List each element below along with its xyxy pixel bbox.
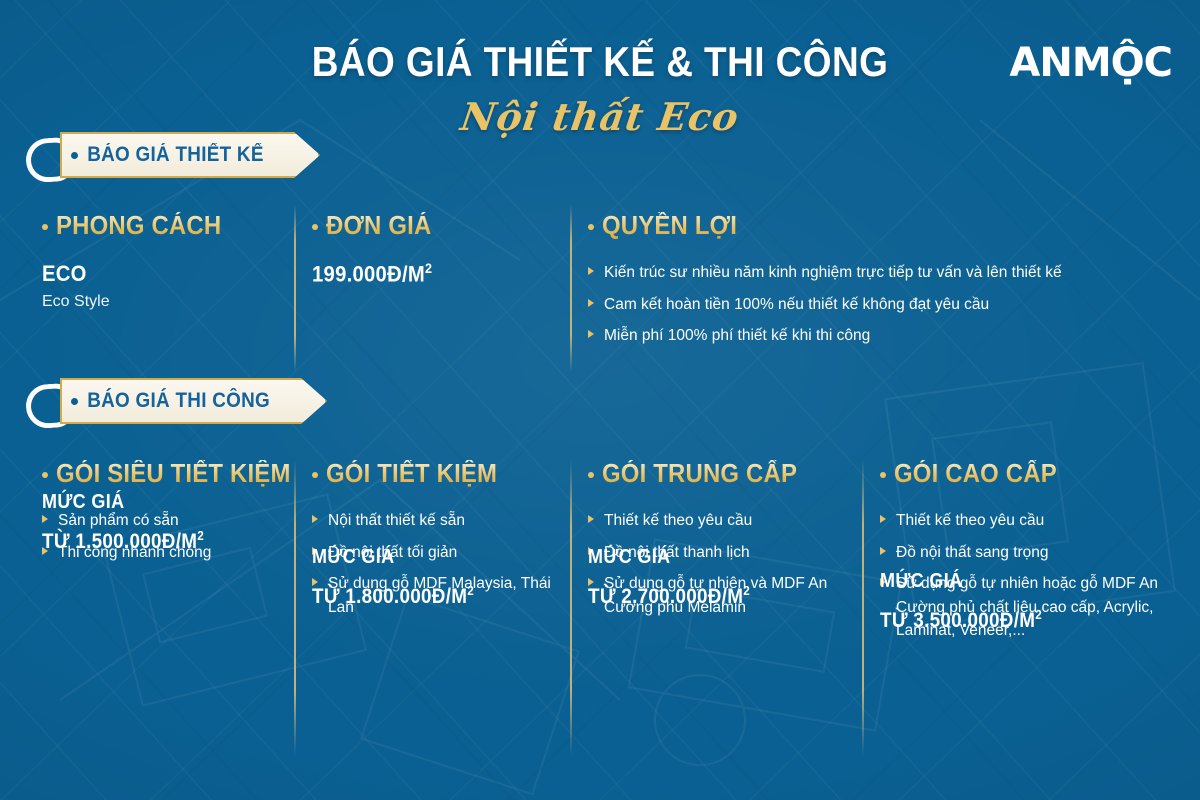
package-mid-range: GÓI TRUNG CẤP Thiết kế theo yêu cầu Đồ n… bbox=[588, 460, 858, 627]
unit-price-superscript: 2 bbox=[425, 261, 432, 276]
tag-body: BÁO GIÁ THIẾT KẾ bbox=[60, 132, 320, 178]
list-item: Miễn phí 100% phí thiết kế khi thi công bbox=[588, 324, 1168, 348]
quotation-poster: BÁO GIÁ THIẾT KẾ & THI CÔNG Nội thất Eco… bbox=[0, 0, 1200, 800]
list-item: Cam kết hoàn tiền 100% nếu thiết kế khôn… bbox=[588, 293, 1168, 317]
tag-label-construction: BÁO GIÁ THI CÔNG bbox=[80, 389, 270, 413]
package-price-block: MỨC GIÁ TỪ 1.500.000Đ/M2 bbox=[42, 491, 222, 554]
list-item-text: Nội thất thiết kế sẵn bbox=[328, 512, 465, 529]
list-item-text: Thiết kế theo yêu cầu bbox=[604, 512, 752, 529]
heading-text: QUYỀN LỢI bbox=[602, 212, 737, 239]
style-value: ECO bbox=[42, 261, 272, 287]
package-heading: GÓI CAO CẤP bbox=[880, 460, 1180, 487]
package-price-block: MỨC GIÁ TỪ 2.700.000Đ/M2 bbox=[588, 546, 768, 609]
price-superscript: 2 bbox=[197, 528, 204, 543]
unit-price-number: 199.000Đ/M bbox=[312, 262, 425, 287]
price-superscript: 2 bbox=[467, 583, 474, 598]
benefits-list: Kiến trúc sư nhiều năm kinh nghiệm trực … bbox=[588, 261, 1168, 348]
package-heading: GÓI SIÊU TIẾT KIỆM bbox=[42, 460, 292, 487]
style-subvalue: Eco Style bbox=[42, 293, 292, 311]
list-item-text: Thiết kế theo yêu cầu bbox=[896, 512, 1044, 529]
section-tag-construction: BÁO GIÁ THI CÔNG bbox=[22, 378, 327, 424]
price-label: MỨC GIÁ bbox=[588, 546, 750, 569]
triangle-bullet-icon bbox=[880, 547, 886, 555]
list-item: Nội thất thiết kế sẵn bbox=[312, 509, 562, 533]
tag-hole-icon bbox=[71, 152, 78, 159]
heading-text: PHONG CÁCH bbox=[56, 212, 221, 239]
column-heading-benefits: QUYỀN LỢI bbox=[588, 212, 1168, 239]
triangle-bullet-icon bbox=[588, 267, 594, 275]
price-number: TỪ 1.800.000Đ/M bbox=[312, 585, 467, 608]
package-heading: GÓI TIẾT KIỆM bbox=[312, 460, 562, 487]
tag-body: BÁO GIÁ THI CÔNG bbox=[60, 378, 327, 424]
section-tag-design: BÁO GIÁ THIẾT KẾ bbox=[22, 132, 320, 178]
list-item-text: Miễn phí 100% phí thiết kế khi thi công bbox=[604, 327, 870, 344]
triangle-bullet-icon bbox=[880, 515, 886, 523]
column-heading-unit-price: ĐƠN GIÁ bbox=[312, 212, 542, 239]
bullet-dot-icon bbox=[42, 224, 48, 230]
bullet-dot-icon bbox=[42, 472, 48, 478]
package-heading: GÓI TRUNG CẤP bbox=[588, 460, 858, 487]
bullet-dot-icon bbox=[312, 472, 318, 478]
heading-text: GÓI TRUNG CẤP bbox=[602, 460, 797, 487]
price-number: TỪ 1.500.000Đ/M bbox=[42, 530, 197, 553]
brand-logo: ANMỘC bbox=[1009, 40, 1172, 86]
triangle-bullet-icon bbox=[312, 515, 318, 523]
column-heading-style: PHONG CÁCH bbox=[42, 212, 292, 239]
heading-text: ĐƠN GIÁ bbox=[326, 212, 431, 239]
bullet-dot-icon bbox=[880, 472, 886, 478]
price-label: MỨC GIÁ bbox=[312, 546, 474, 569]
column-benefits: QUYỀN LỢI Kiến trúc sư nhiều năm kinh ng… bbox=[588, 212, 1168, 356]
list-item-text: Cam kết hoàn tiền 100% nếu thiết kế khôn… bbox=[604, 296, 989, 313]
heading-text: GÓI SIÊU TIẾT KIỆM bbox=[56, 460, 291, 487]
tag-hole-icon bbox=[71, 398, 78, 405]
bullet-dot-icon bbox=[588, 472, 594, 478]
package-saver: GÓI TIẾT KIỆM Nội thất thiết kế sẵn Đồ n… bbox=[312, 460, 562, 627]
price-value: TỪ 3.500.000Đ/M2 bbox=[880, 607, 1042, 633]
bullet-dot-icon bbox=[312, 224, 318, 230]
design-quote-row: PHONG CÁCH ECO Eco Style ĐƠN GIÁ 199.000… bbox=[0, 212, 1200, 382]
package-premium: GÓI CAO CẤP Thiết kế theo yêu cầu Đồ nội… bbox=[880, 460, 1180, 651]
bullet-dot-icon bbox=[588, 224, 594, 230]
heading-text: GÓI CAO CẤP bbox=[894, 460, 1057, 487]
column-unit-price: ĐƠN GIÁ 199.000Đ/M2 bbox=[312, 212, 542, 294]
list-item: Thiết kế theo yêu cầu bbox=[588, 509, 858, 533]
triangle-bullet-icon bbox=[588, 515, 594, 523]
price-value: TỪ 1.500.000Đ/M2 bbox=[42, 528, 204, 554]
unit-price-value: 199.000Đ/M2 bbox=[312, 261, 524, 287]
package-price-block: MỨC GIÁ TỪ 3.500.000Đ/M2 bbox=[880, 570, 1060, 633]
list-item-text: Kiến trúc sư nhiều năm kinh nghiệm trực … bbox=[604, 264, 1062, 281]
list-item-text: Đồ nội thất sang trọng bbox=[896, 544, 1049, 561]
tag-label-design: BÁO GIÁ THIẾT KẾ bbox=[80, 143, 264, 167]
column-style: PHONG CÁCH ECO Eco Style bbox=[42, 212, 292, 311]
price-superscript: 2 bbox=[1035, 607, 1042, 622]
price-label: MỨC GIÁ bbox=[880, 570, 1042, 593]
construction-quote-row: GÓI SIÊU TIẾT KIỆM Sản phẩm có sẵn Thi c… bbox=[0, 460, 1200, 790]
list-item: Đồ nội thất sang trọng bbox=[880, 541, 1180, 565]
package-super-saver: GÓI SIÊU TIẾT KIỆM Sản phẩm có sẵn Thi c… bbox=[42, 460, 292, 572]
price-superscript: 2 bbox=[743, 583, 750, 598]
page-title: BÁO GIÁ THIẾT KẾ & THI CÔNG bbox=[72, 38, 1128, 86]
price-number: TỪ 3.500.000Đ/M bbox=[880, 609, 1035, 632]
triangle-bullet-icon bbox=[588, 330, 594, 338]
list-item: Kiến trúc sư nhiều năm kinh nghiệm trực … bbox=[588, 261, 1168, 285]
price-number: TỪ 2.700.000Đ/M bbox=[588, 585, 743, 608]
price-value: TỪ 2.700.000Đ/M2 bbox=[588, 583, 750, 609]
triangle-bullet-icon bbox=[588, 299, 594, 307]
price-value: TỪ 1.800.000Đ/M2 bbox=[312, 583, 474, 609]
package-price-block: MỨC GIÁ TỪ 1.800.000Đ/M2 bbox=[312, 546, 492, 609]
price-label: MỨC GIÁ bbox=[42, 491, 204, 514]
heading-text: GÓI TIẾT KIỆM bbox=[326, 460, 497, 487]
list-item: Thiết kế theo yêu cầu bbox=[880, 509, 1180, 533]
poster-header: BÁO GIÁ THIẾT KẾ & THI CÔNG Nội thất Eco… bbox=[0, 0, 1200, 150]
